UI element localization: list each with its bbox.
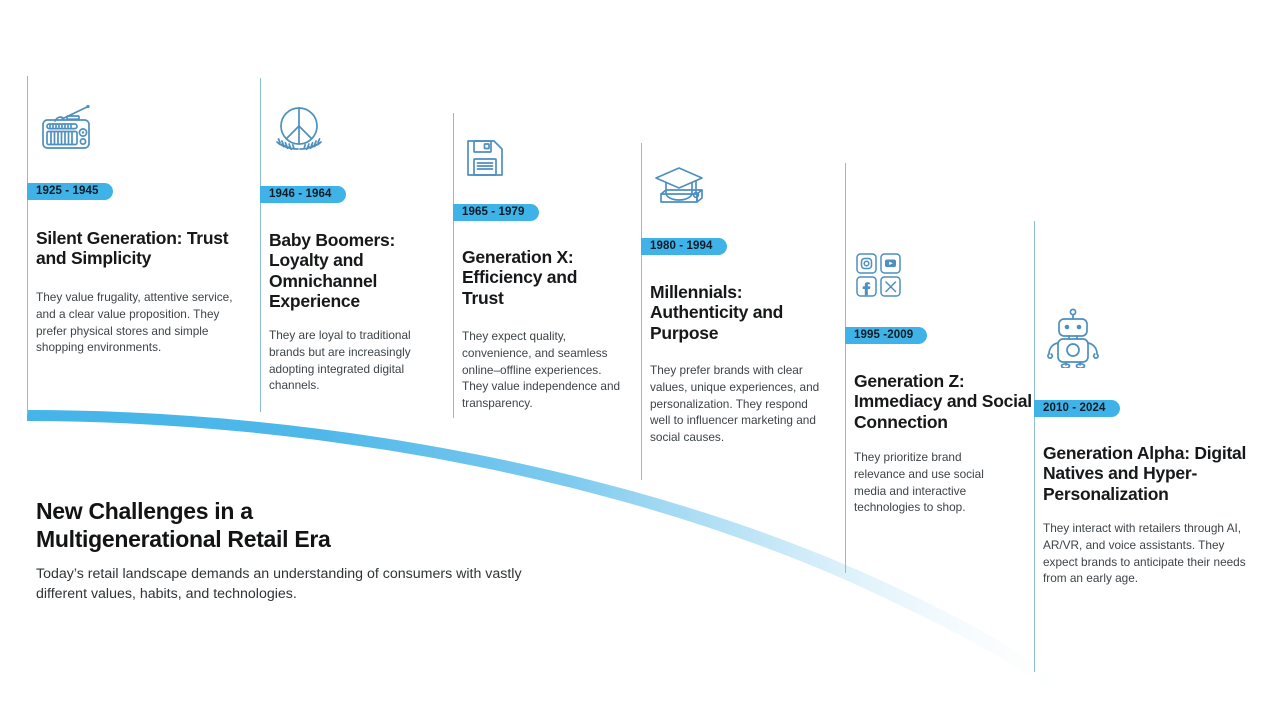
generation-title: Generation X: Efficiency and Trust [462,247,612,308]
social-media-icons [856,253,904,299]
year-badge: 1995 -2009 [845,327,927,344]
year-badge: 1946 - 1964 [260,186,346,203]
column-divider [1034,221,1035,672]
footer-subtitle: Today’s retail landscape demands an unde… [36,564,556,604]
generation-title: Millennials: Authenticity and Purpose [650,282,820,343]
generation-description: They expect quality, convenience, and se… [462,328,622,412]
year-badge: 2010 - 2024 [1034,400,1120,417]
column-divider [641,143,642,480]
column-divider [453,113,454,418]
footer-heading-line1: New Challenges in a [36,498,253,524]
generation-description: They prioritize brand relevance and use … [854,449,1002,516]
radio-icon [38,102,98,152]
generation-title: Silent Generation: Trust and Simplicity [36,228,236,269]
year-badge: 1980 - 1994 [641,238,727,255]
infographic-canvas: 1925 - 1945 Silent Generation: Trust and… [0,0,1280,720]
footer-heading-line2: Multigenerational Retail Era [36,526,331,552]
column-divider [27,76,28,414]
footer-block: New Challenges in a Multigenerational Re… [36,498,556,605]
generation-description: They value frugality, attentive service,… [36,289,251,356]
robot-icon [1045,308,1101,368]
generation-title: Baby Boomers: Loyalty and Omnichannel Ex… [269,230,419,312]
generation-title: Generation Z: Immediacy and Social Conne… [854,371,1034,432]
generation-description: They prefer brands with clear values, un… [650,362,828,446]
graduation-cap-icon [652,164,706,212]
generation-description: They interact with retailers through AI,… [1043,520,1253,587]
generation-title: Generation Alpha: Digital Natives and Hy… [1043,443,1268,504]
column-divider [845,163,846,573]
column-divider [260,78,261,412]
generation-description: They are loyal to traditional brands but… [269,327,429,394]
year-badge: 1925 - 1945 [27,183,113,200]
year-badge: 1965 - 1979 [453,204,539,221]
peace-wreath-icon [271,104,327,158]
footer-heading: New Challenges in a Multigenerational Re… [36,498,556,553]
floppy-disk-icon [464,137,506,179]
